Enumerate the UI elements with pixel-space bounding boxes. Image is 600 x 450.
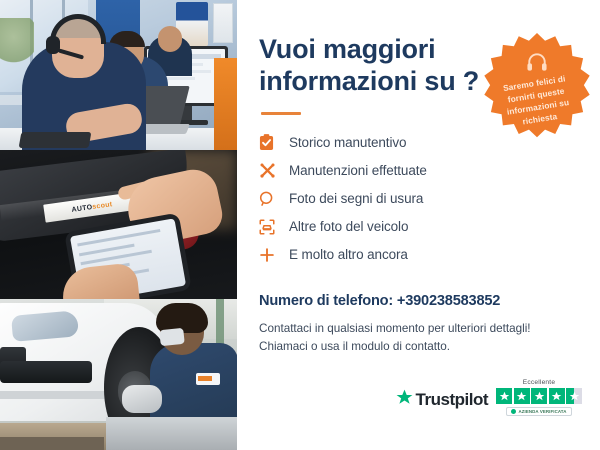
- work-glove: [122, 385, 162, 413]
- star-full-icon: [549, 388, 565, 404]
- title-underline: [261, 112, 301, 115]
- scan-car-icon: [259, 219, 289, 235]
- person-head: [158, 26, 182, 52]
- list-item-label: Altre foto del veicolo: [289, 219, 408, 234]
- car-lower-grille: [0, 361, 92, 383]
- greenery-decor: [0, 18, 34, 66]
- star-full-icon: [531, 388, 547, 404]
- sticker-text: AUTOscout: [71, 201, 113, 214]
- contact-line-1: Contattaci in qualsiasi momento per ulte…: [259, 322, 531, 335]
- trustpilot-name: Trustpilot: [416, 390, 488, 410]
- star-half-icon: [566, 388, 582, 404]
- list-item-label: Manutenzioni effettuate: [289, 163, 427, 178]
- rating-label: Eccellente: [523, 379, 555, 386]
- feature-list: Storico manutentivo Manutenzioni effettu…: [259, 129, 578, 269]
- star-full-icon: [514, 388, 530, 404]
- trustpilot-star-icon: [396, 389, 413, 411]
- photo-column: AUTOscout: [0, 0, 237, 450]
- star-rating: [496, 388, 582, 404]
- bench-shadow: [0, 437, 104, 450]
- list-item[interactable]: Foto dei segni di usura: [259, 185, 578, 213]
- phone-number[interactable]: Numero di telefono: +390238583852: [259, 293, 578, 309]
- tools-cross-icon: [259, 162, 289, 179]
- title-line-1: Vuoi maggiori: [259, 34, 435, 64]
- magnifier-icon: [259, 191, 289, 207]
- contact-description: Contattaci in qualsiasi momento per ulte…: [259, 320, 578, 357]
- title-line-2: informazioni su ?: [259, 66, 479, 96]
- star-full-icon: [496, 388, 512, 404]
- verified-label: AZIENDA VERIFICATA: [518, 409, 566, 414]
- photo-bumper-sticker: AUTOscout: [0, 150, 237, 299]
- trustpilot-logo: Trustpilot: [396, 389, 488, 416]
- verified-badge: AZIENDA VERIFICATA: [506, 407, 571, 416]
- check-badge-icon: [511, 409, 516, 414]
- uniform-logo-patch: [196, 373, 220, 385]
- contact-line-2: Chiamaci o usa il modulo di contatto.: [259, 340, 450, 353]
- trustpilot-widget[interactable]: Trustpilot Eccellente: [396, 379, 582, 416]
- photo-mechanic-wheel: [0, 299, 237, 450]
- desk-tablet: [19, 132, 92, 148]
- content-panel: Vuoi maggiori informazioni su ? Saremo f…: [237, 0, 600, 450]
- plus-icon: [259, 247, 289, 263]
- orange-equipment: [214, 58, 237, 150]
- list-item[interactable]: Altre foto del veicolo: [259, 213, 578, 241]
- tool-cabinet: [106, 417, 237, 450]
- face-mask: [159, 328, 185, 346]
- photo-call-center: [0, 0, 237, 150]
- clipboard-check-icon: [259, 134, 289, 151]
- callout-badge: Saremo felici di fornirti queste informa…: [484, 33, 590, 139]
- list-item[interactable]: Manutenzioni effettuate: [259, 157, 578, 185]
- screen-line: [77, 229, 160, 247]
- trustpilot-rating: Eccellente: [496, 379, 582, 416]
- list-item-label: Storico manutentivo: [289, 135, 406, 150]
- list-item-label: E molto altro ancora: [289, 247, 408, 262]
- list-item[interactable]: E molto altro ancora: [259, 241, 578, 269]
- car-bumper: [0, 391, 110, 399]
- promo-card: AUTOscout: [0, 0, 600, 450]
- list-item-label: Foto dei segni di usura: [289, 191, 423, 206]
- wall-poster: [213, 3, 233, 43]
